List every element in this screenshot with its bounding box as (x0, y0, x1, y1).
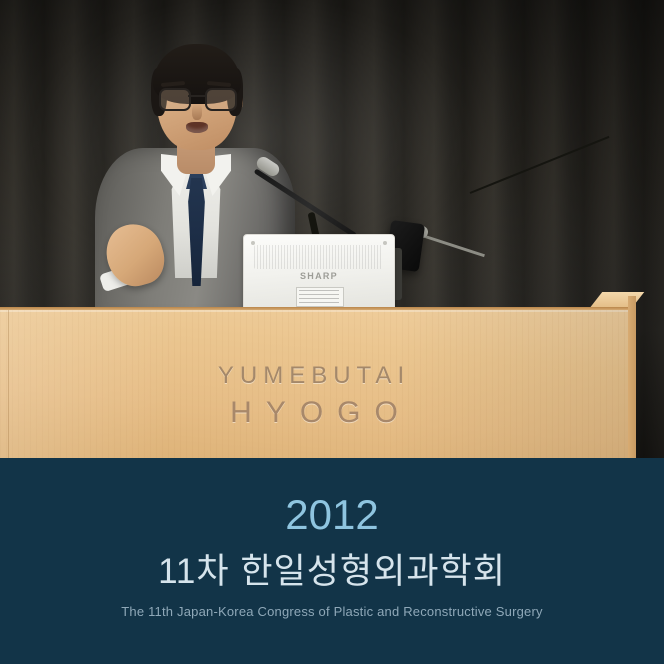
title-banner: 2012 11차 한일성형외과학회 The 11th Japan-Korea C… (0, 458, 664, 664)
podium-side-panel (628, 296, 636, 458)
monitor-screw-left (251, 241, 255, 245)
monitor-screw-right (383, 241, 387, 245)
nose (192, 104, 202, 120)
event-subtitle-english: The 11th Japan-Korea Congress of Plastic… (0, 604, 664, 619)
event-title-korean: 11차 한일성형외과학회 (0, 552, 664, 592)
monitor-brand-label: SHARP (244, 271, 394, 281)
screenshot-root: SHARP YUMEBUTAI HYOGO 2012 11차 한일성형외과학회 … (0, 0, 664, 664)
monitor-spec-sticker (296, 287, 344, 307)
monitor-vents (254, 245, 382, 269)
eyeglass-bridge (188, 95, 206, 97)
eyeglass-lens-left (159, 88, 191, 111)
eyeglass-lens-right (205, 88, 237, 111)
podium-monitor: SHARP (243, 234, 395, 314)
podium-venue-line-1: YUMEBUTAI (0, 362, 628, 390)
podium-venue-text: YUMEBUTAI HYOGO (0, 362, 628, 430)
title-banner-content: 2012 11차 한일성형외과학회 The 11th Japan-Korea C… (0, 458, 664, 619)
conference-photo: SHARP YUMEBUTAI HYOGO (0, 0, 664, 458)
podium-venue-line-2: HYOGO (0, 396, 628, 430)
event-year: 2012 (0, 494, 664, 536)
mouth (186, 122, 208, 133)
monitor-spec-sticker-text (299, 290, 339, 303)
